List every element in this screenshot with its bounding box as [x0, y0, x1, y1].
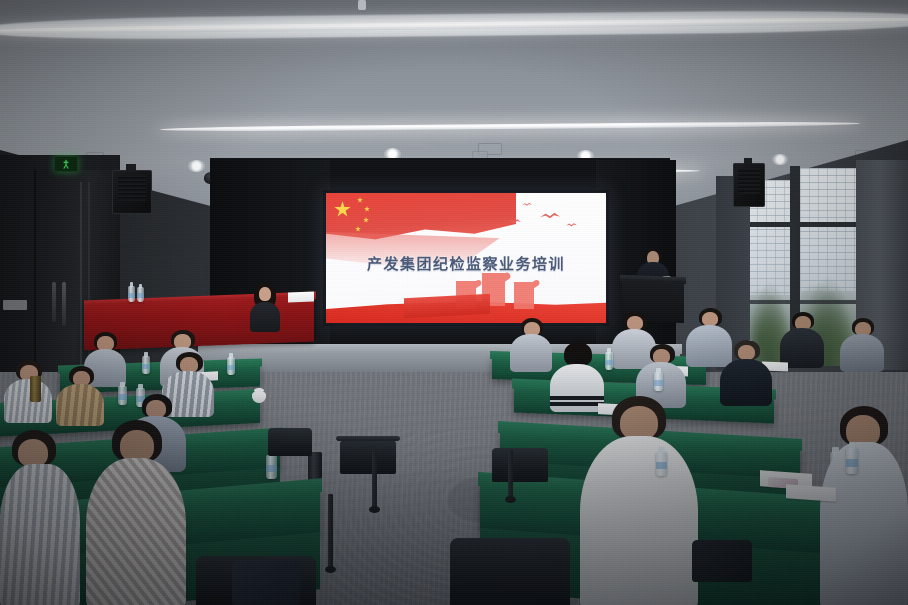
water-bottle [137, 287, 144, 302]
water-bottle [227, 357, 235, 375]
table-leg-foot [325, 566, 336, 573]
sprinkler-icon [358, 0, 366, 10]
attendee [840, 318, 884, 370]
water-bottle [128, 286, 135, 302]
ceiling-speaker [733, 163, 765, 207]
water-bottle [266, 455, 277, 479]
door-handle[interactable] [62, 282, 66, 326]
speaker-bracket [126, 164, 136, 172]
speaker-grille-icon [738, 168, 761, 194]
seated-host-at-head-table [250, 282, 280, 330]
water-bottle [605, 352, 613, 370]
running-man-exit-icon [63, 160, 70, 169]
shoulder-bag [232, 560, 300, 605]
door-handle[interactable] [52, 282, 56, 322]
shoulder-bag [692, 540, 752, 582]
attendee [510, 318, 552, 370]
table-leg [508, 450, 513, 498]
attendee-foreground-center [580, 396, 698, 605]
water-bottle [846, 448, 858, 474]
wall-speaker [112, 170, 152, 214]
table-leg-foot [369, 506, 380, 513]
name-card [288, 292, 314, 303]
attendee [780, 312, 824, 366]
attendee [56, 366, 104, 424]
attendee [720, 340, 772, 404]
attendee [4, 360, 52, 420]
window-mullion [748, 222, 858, 227]
slide-title: 产发集团纪检监察业务培训 [326, 253, 606, 274]
table-leg [328, 494, 333, 568]
speaker-bracket [744, 158, 752, 164]
ceiling-light-strip-2 [160, 121, 860, 132]
conference-room-photo: 产发集团纪检监察业务培训 [0, 0, 908, 605]
saluting-figure-silhouette [514, 282, 534, 309]
downlight-icon [188, 160, 205, 172]
table-leg-foot [505, 496, 516, 503]
audience-chair[interactable] [492, 448, 548, 482]
water-bottle [654, 372, 663, 391]
wall-plaque [3, 300, 27, 310]
thermos-flask [30, 376, 41, 402]
water-bottle [142, 356, 150, 374]
table-leg [372, 452, 377, 508]
exit-sign [54, 156, 78, 172]
audience-chair[interactable] [268, 428, 312, 456]
chair-backrest [336, 436, 400, 441]
audience-chair[interactable] [340, 440, 396, 474]
speaker-grille-icon [118, 175, 147, 201]
window-mullion [748, 300, 858, 304]
water-bottle [656, 452, 667, 476]
attendee-foreground-left [86, 420, 186, 605]
downlight-icon [772, 154, 788, 165]
attendee-foreground-far-left [0, 430, 80, 605]
attendee-foreground-right [820, 406, 908, 605]
audience-chair[interactable] [450, 538, 570, 605]
